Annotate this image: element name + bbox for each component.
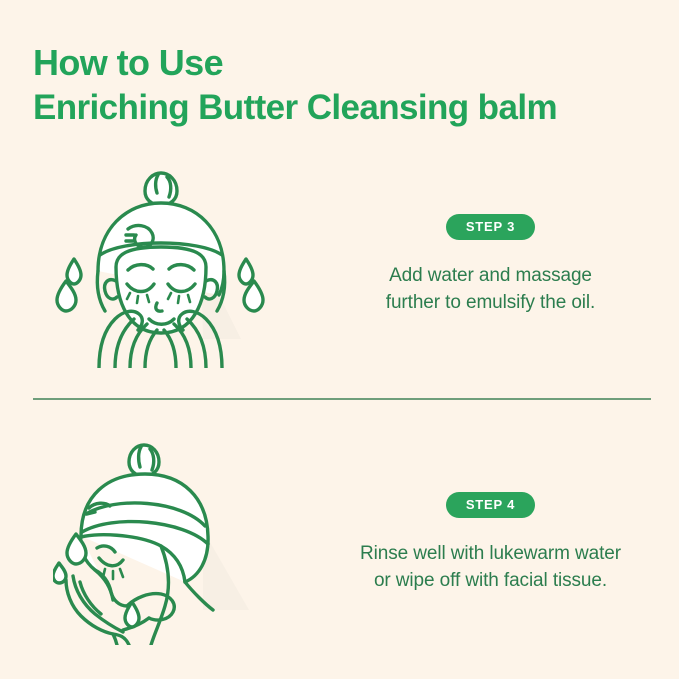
woman-rinsing-face-with-cupped-hands-icon — [53, 440, 268, 645]
step-3-desc-line-2: further to emulsify the oil. — [386, 289, 595, 316]
step-description-3: Add water and massage further to emulsif… — [386, 262, 595, 316]
step-4-text-cell: STEP 4 Rinse well with lukewarm water or… — [320, 430, 679, 655]
section-divider — [33, 398, 651, 400]
step-section-4: STEP 4 Rinse well with lukewarm water or… — [0, 430, 679, 655]
step-3-desc-line-1: Add water and massage — [386, 262, 595, 289]
page-title-line-1: How to Use — [33, 40, 663, 85]
page-title: How to Use Enriching Butter Cleansing ba… — [33, 40, 663, 130]
how-to-use-infographic: How to Use Enriching Butter Cleansing ba… — [0, 0, 679, 679]
step-badge-3: STEP 3 — [446, 214, 535, 240]
step-3-text-cell: STEP 3 Add water and massage further to … — [320, 155, 679, 375]
step-4-illustration-cell — [0, 430, 320, 655]
step-3-illustration-cell — [0, 155, 320, 375]
step-4-desc-line-1: Rinse well with lukewarm water — [360, 540, 621, 567]
step-description-4: Rinse well with lukewarm water or wipe o… — [360, 540, 621, 594]
page-title-line-2: Enriching Butter Cleansing balm — [33, 85, 663, 130]
step-section-3: STEP 3 Add water and massage further to … — [0, 155, 679, 375]
step-badge-4: STEP 4 — [446, 492, 535, 518]
step-4-desc-line-2: or wipe off with facial tissue. — [360, 567, 621, 594]
woman-massaging-face-with-both-hands-icon — [53, 163, 268, 368]
